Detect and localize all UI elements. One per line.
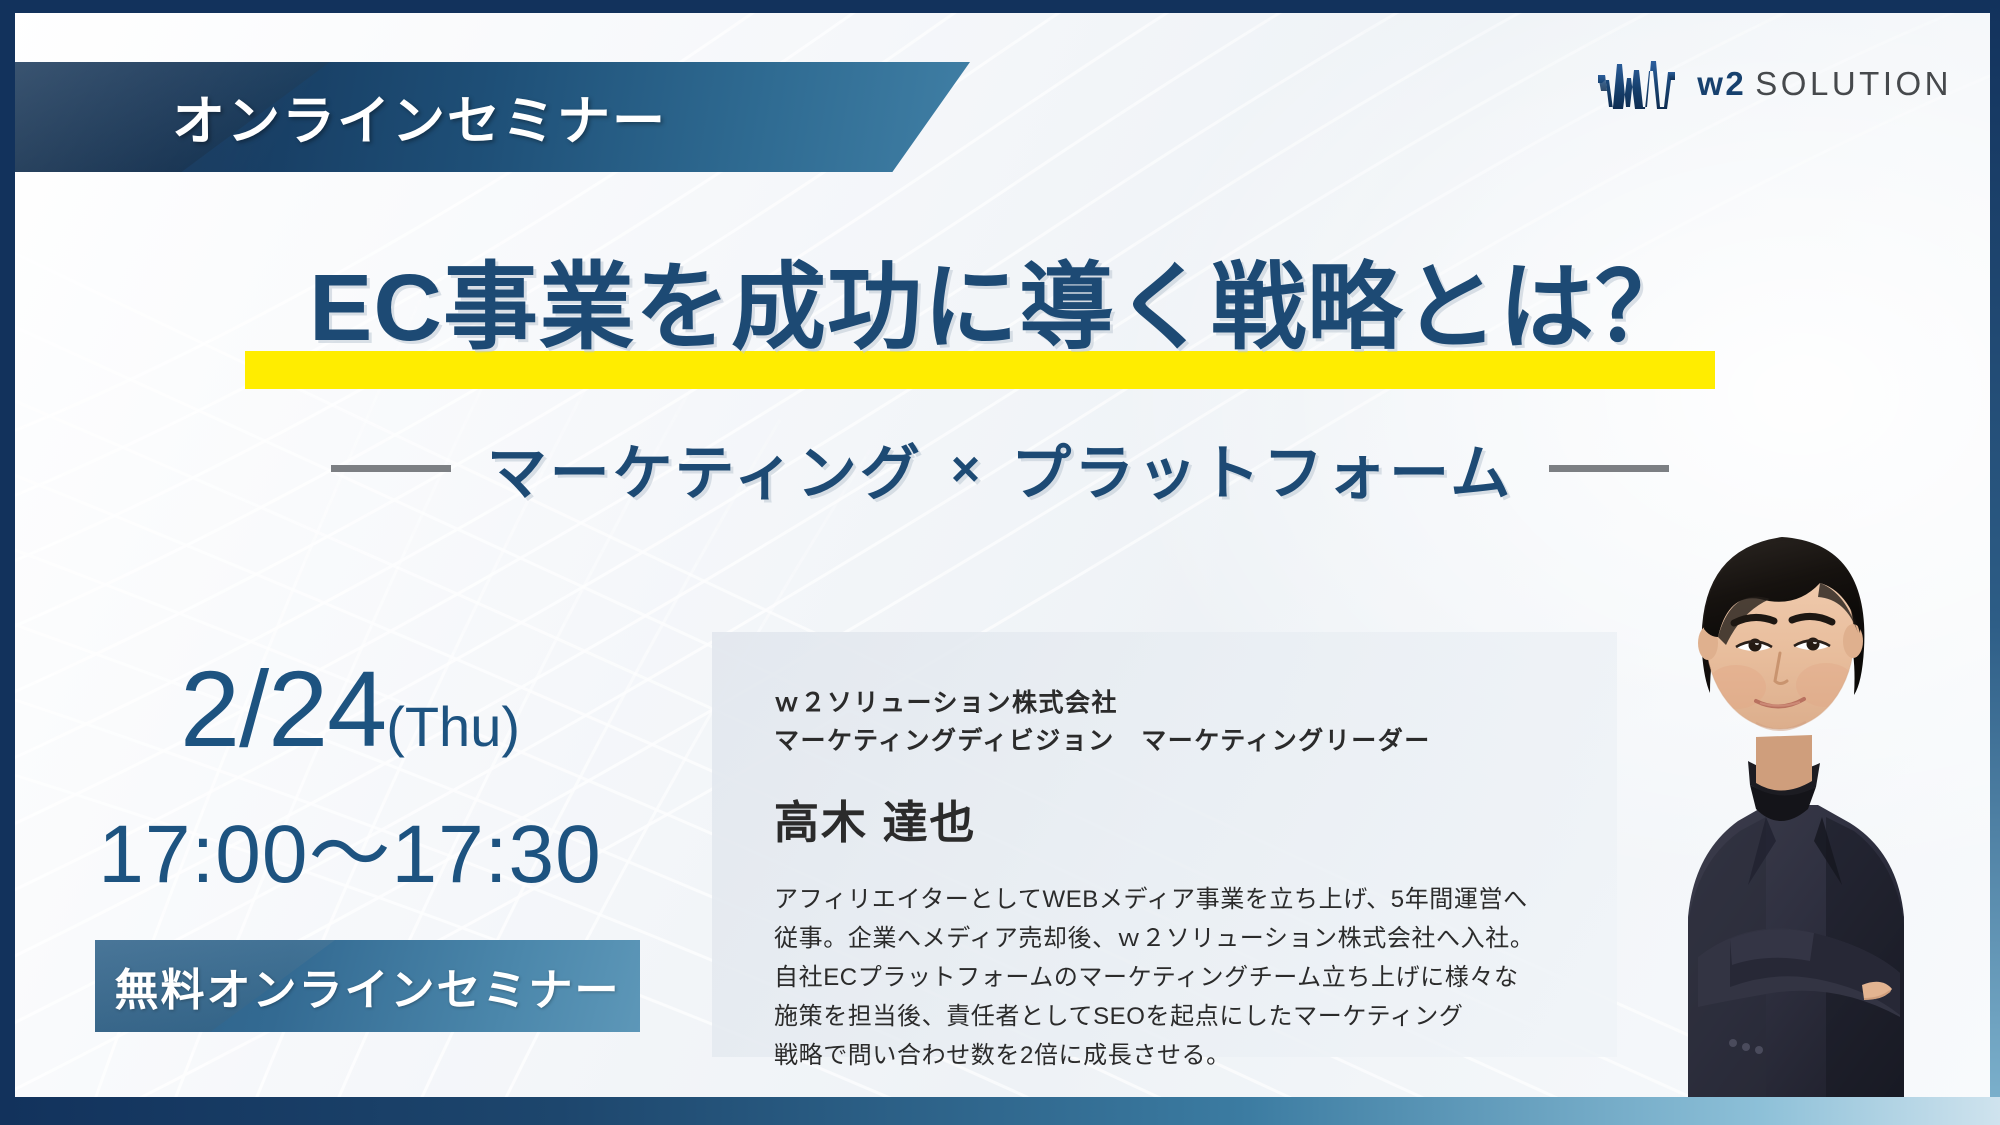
speaker-card: ｗ２ソリューション株式会社 マーケティングディビジョン マーケティングリーダー … [712, 632, 1617, 1057]
logo-brand-text: w2 [1697, 65, 1746, 103]
speaker-bio-line: 自社ECプラットフォームのマーケティングチーム立ち上げに様々な [774, 959, 1594, 998]
speaker-company: ｗ２ソリューション株式会社 [774, 684, 1594, 722]
company-logo[interactable]: w2 SOLUTION [1597, 58, 1952, 110]
event-date-line: 2/24(Thu) [0, 655, 700, 763]
subtitle-right-term: プラットフォーム [1011, 425, 1513, 512]
speaker-bio: アフィリエイターとしてWEBメディア事業を立ち上げ、5年間運営へ 従事。企業へメ… [774, 881, 1594, 1075]
ribbon-label: オンラインセミナー [172, 62, 667, 172]
free-seminar-badge[interactable]: 無料オンラインセミナー [95, 940, 640, 1032]
frame-top-border [0, 0, 2000, 13]
speaker-card-content: ｗ２ソリューション株式会社 マーケティングディビジョン マーケティングリーダー … [774, 684, 1594, 1075]
frame-left-border [0, 0, 15, 1125]
speaker-portrait-photo [1570, 487, 1990, 1097]
headline-area: EC事業を成功に導く戦略とは？ [0, 255, 2000, 361]
online-seminar-ribbon: オンラインセミナー [0, 62, 970, 172]
badge-label: 無料オンラインセミナー [115, 954, 621, 1018]
speaker-bio-line: 戦略で問い合わせ数を2倍に成長させる。 [774, 1037, 1594, 1076]
page-title: EC事業を成功に導く戦略とは？ [309, 255, 1691, 361]
webinar-banner: オンラインセミナー w2 SOLUTION EC事業を成功に導く戦 [0, 0, 2000, 1125]
subtitle-rule-right [1549, 465, 1669, 472]
event-day-of-week: (Thu) [386, 695, 520, 758]
frame-right-border [1990, 0, 2000, 1125]
schedule-block: 2/24(Thu) 17:00〜17:30 [0, 655, 700, 906]
speaker-department: マーケティングディビジョン マーケティングリーダー [774, 722, 1594, 760]
subtitle-left-term: マーケティング [487, 425, 923, 512]
speaker-bio-line: アフィリエイターとしてWEBメディア事業を立ち上げ、5年間運営へ [774, 881, 1594, 920]
subtitle: マーケティング × プラットフォーム [487, 425, 1514, 512]
subtitle-rule-left [331, 465, 451, 472]
speaker-bio-line: 従事。企業へメディア売却後、ｗ２ソリューション株式会社へ入社。 [774, 920, 1594, 959]
event-date: 2/24 [180, 648, 386, 769]
waveform-icon [1597, 58, 1681, 110]
speaker-bio-line: 施策を担当後、責任者としてSEOを起点にしたマーケティング [774, 998, 1594, 1037]
event-time: 17:00〜17:30 [0, 787, 700, 906]
frame-bottom-border [0, 1097, 2000, 1125]
speaker-name: 高木 達也 [774, 786, 1594, 851]
subtitle-separator: × [951, 440, 983, 498]
logo-suffix-text: SOLUTION [1755, 65, 1952, 103]
